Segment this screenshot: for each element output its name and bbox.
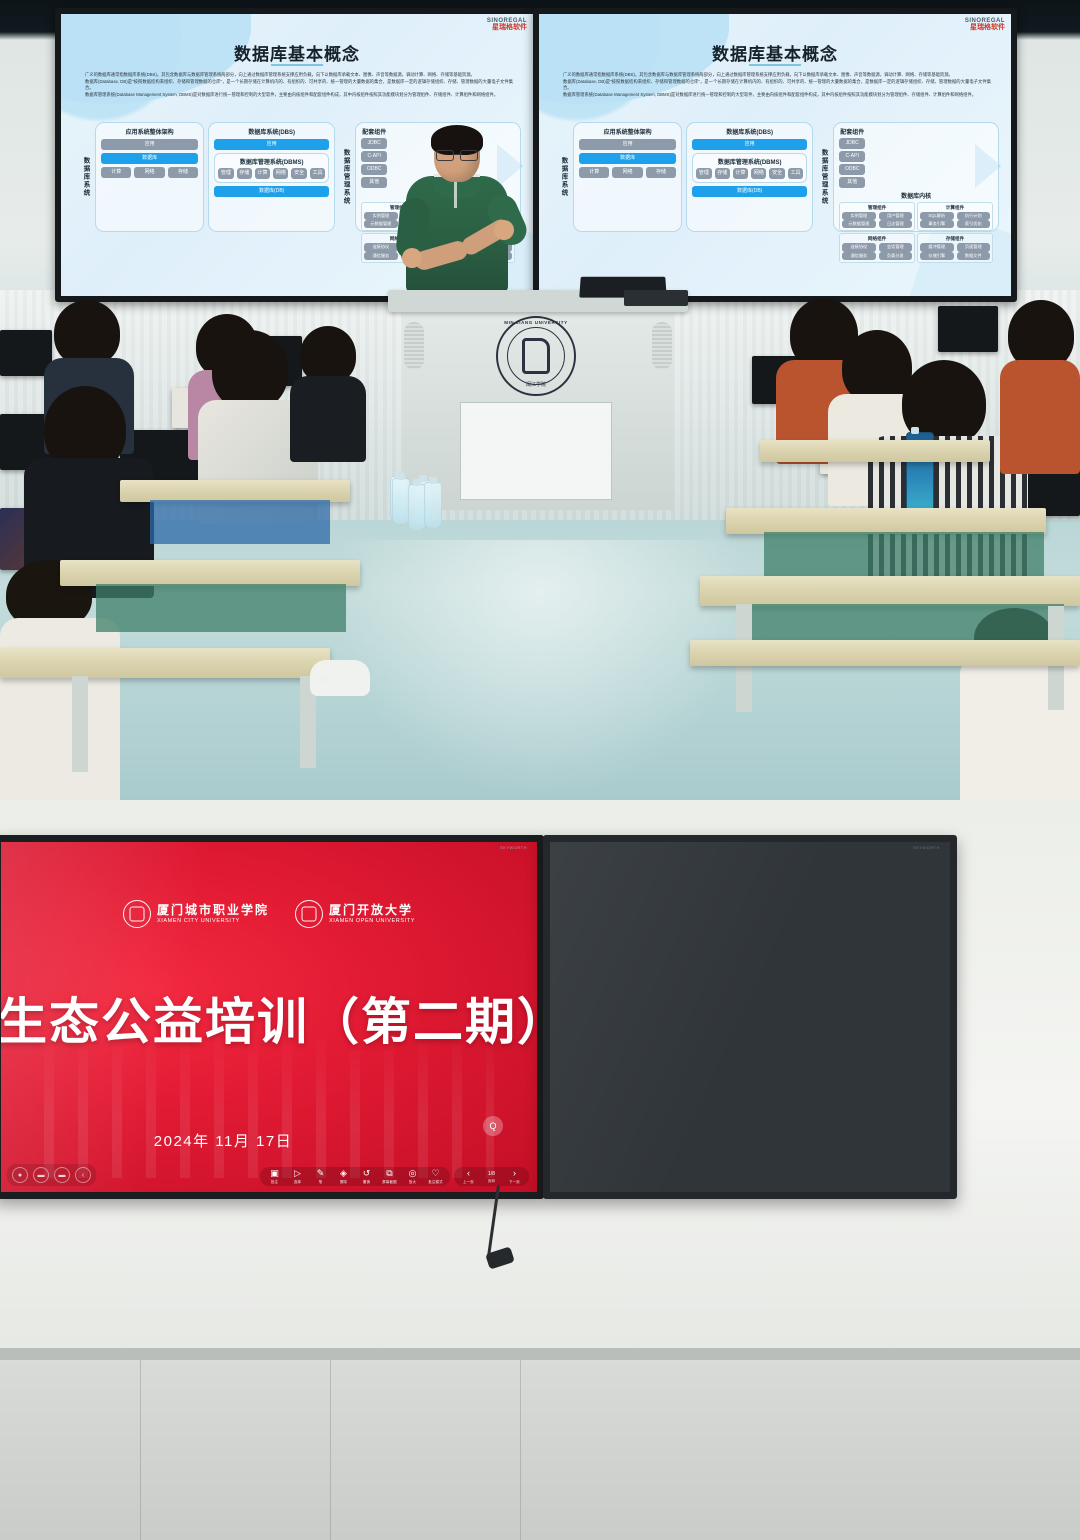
tool-zoom-label: 放大 xyxy=(409,1179,416,1184)
page-nav-group[interactable]: ‹ 上一页 1/8 页码 › 下一页 xyxy=(454,1167,529,1186)
kernel-side-chip-0-r: JDBC xyxy=(839,138,865,149)
diagram-panel-dbs-r: 数据库系统(DBS) 应用 数据库管理系统(DBMS) 管理 存储 计算 网络 … xyxy=(686,122,813,232)
slide-title: 数据库基本概念 xyxy=(61,40,533,65)
panel-architecture-title: 应用系统整体架构 xyxy=(101,127,198,136)
slide-brand: SINOREGAL 星瑞格软件 xyxy=(487,18,527,32)
slide-paragraph-1: 广义的数据库通常指数据库系统(DBS)，其包含数据库与数据库管理系统两部分，向上… xyxy=(85,72,513,79)
university-1-en: XIAMEN CITY UNIVERSITY xyxy=(157,918,269,924)
eraser-icon: ◈ xyxy=(340,1169,347,1178)
dbms-chip-1-r: 存储 xyxy=(715,168,730,179)
zoom-icon: ◎ xyxy=(409,1169,417,1178)
podium-front-panel xyxy=(460,402,612,500)
chevron-right-icon: › xyxy=(513,1169,516,1178)
chip-network: 网络 xyxy=(134,167,164,178)
lecturer-hand-left xyxy=(402,248,422,268)
dbms-chip-3-r: 网络 xyxy=(751,168,766,179)
tool-select[interactable]: ▷ 选择 xyxy=(286,1169,309,1184)
annotation-toolbar[interactable]: ▣ 批注 ▷ 选择 ✎ 笔 ◈ 擦除 xyxy=(260,1167,529,1186)
tool-screenshot[interactable]: ⧉ 屏幕截图 xyxy=(378,1169,401,1184)
chip-compute-r: 计算 xyxy=(579,167,609,178)
panel-dbs-title: 数据库系统(DBS) xyxy=(214,127,329,136)
annotation-tool-group[interactable]: ▣ 批注 ▷ 选择 ✎ 笔 ◈ 擦除 xyxy=(260,1167,450,1186)
kernel-main-r: 数据库内核 管理组件 实例管理用户管理 元数据管理日志管理 计算组件 SQL解析… xyxy=(839,191,993,263)
undo-icon: ↺ xyxy=(363,1169,371,1178)
control-icon-2[interactable]: ▬ xyxy=(54,1167,70,1183)
kb1-c0-r: SQL解析 xyxy=(920,212,953,220)
student xyxy=(1000,300,1080,470)
slide-paragraph-2-r: 数据库(Database, DB)是"按照数据结构来组织、存储和管理数据的仓库"… xyxy=(563,79,991,92)
slide-right: SINOREGAL 星瑞格软件 数据库基本概念 广义的数据库通常指数据库系统(D… xyxy=(539,14,1011,296)
room-floor xyxy=(0,1360,1080,1540)
kernel-box-0-title-r: 管理组件 xyxy=(842,205,912,211)
shoe xyxy=(310,660,370,696)
kb0-c3-r: 日志管理 xyxy=(879,220,912,228)
kb2-c2: 通信服务 xyxy=(364,252,397,260)
prev-page-button[interactable]: ‹ 上一页 xyxy=(457,1169,480,1184)
student-body xyxy=(1000,360,1080,474)
kb3-c2-r: 存储引擎 xyxy=(920,252,953,260)
panel-architecture-title-r: 应用系统整体架构 xyxy=(579,127,676,136)
kb2-c3-r: 负载分发 xyxy=(879,252,912,260)
kernel-box-1-title-r: 计算组件 xyxy=(920,205,990,211)
diagram-panel-architecture-r: 应用系统整体架构 应用 数据库 计算 网络 存储 xyxy=(573,122,682,232)
desk xyxy=(700,576,1080,606)
podium-device xyxy=(624,290,688,306)
kernel-side-chip-2: ODBC xyxy=(361,164,387,175)
next-page-label: 下一页 xyxy=(509,1179,520,1184)
emblem-ring-inner xyxy=(507,327,565,385)
dbms-chip-row: 管理 存储 计算 网络 安全 工具 xyxy=(218,168,325,179)
photo-composite: SINOREGAL 星瑞格软件 数据库基本概念 广义的数据库通常指数据库系统(D… xyxy=(0,0,1080,1540)
kb0-c2: 元数据管理 xyxy=(364,220,397,228)
slide-brand-r: SINOREGAL 星瑞格软件 xyxy=(965,18,1005,32)
student-body xyxy=(0,618,120,800)
slide-diagram-r: 数据库系统 应用系统整体架构 应用 数据库 计算 网络 存储 数据库系统(DBS… xyxy=(557,122,999,232)
screen-glow xyxy=(543,835,830,1199)
brand-cn-label: 星瑞格软件 xyxy=(487,24,527,31)
subpanel-dbms-title-r: 数据库管理系统(DBMS) xyxy=(696,157,803,166)
floor-glare xyxy=(330,540,750,800)
kernel-box-storage-r: 存储组件 缓冲管理页面管理 存储引擎数据文件 xyxy=(917,233,993,262)
slide-body-r: 广义的数据库通常指数据库系统(DBS)，其包含数据库与数据库管理系统两部分，向上… xyxy=(563,72,991,99)
dbms-chip-2: 计算 xyxy=(255,168,270,179)
diagram-panel-kernel-r: 配套组件 JDBC C-API ODBC 其他 数据库内核 管理组件 实 xyxy=(833,122,999,232)
page-indicator: 1/8 页码 xyxy=(480,1169,503,1184)
pen-icon: ✎ xyxy=(317,1169,325,1178)
tool-screenshot-label: 屏幕截图 xyxy=(382,1179,396,1184)
tool-undo[interactable]: ↺ 撤销 xyxy=(355,1169,378,1184)
diagram-panel-architecture: 应用系统整体架构 应用 数据库 计算 网络 存储 xyxy=(95,122,204,232)
emblem-en-text: MIN JIANG UNIVERSITY xyxy=(498,320,574,325)
kb2-c1-r: 会话管理 xyxy=(879,243,912,251)
kb2-c0: 连接协议 xyxy=(364,243,397,251)
slide-body: 广义的数据库通常指数据库系统(DBS)，其包含数据库与数据库管理系统两部分，向上… xyxy=(85,72,513,99)
control-icon-0[interactable]: ● xyxy=(12,1167,28,1183)
tool-eraser[interactable]: ◈ 擦除 xyxy=(332,1169,355,1184)
university-seal-icon xyxy=(123,900,151,928)
panel-architecture-base-row: 计算 网络 存储 xyxy=(101,167,198,178)
lecturer-hand-right xyxy=(494,220,514,240)
kernel-side-chip-1-r: C-API xyxy=(839,151,865,162)
kernel-side-title: 配套组件 xyxy=(361,127,387,136)
tool-pen-label: 笔 xyxy=(319,1179,323,1184)
dbms-chip-5: 工具 xyxy=(310,168,325,179)
panel-dbs-title-r: 数据库系统(DBS) xyxy=(692,127,807,136)
chip-db: 数据库(DB) xyxy=(214,186,329,197)
diagram-panel-dbs: 数据库系统(DBS) 应用 数据库管理系统(DBMS) 管理 存储 计算 网络 … xyxy=(208,122,335,232)
dbms-chip-0: 管理 xyxy=(218,168,233,179)
banner-room-photo: 厦门城市职业学院 XIAMEN CITY UNIVERSITY 厦门开放大学 X… xyxy=(0,800,1080,1540)
dbms-chip-3: 网络 xyxy=(273,168,288,179)
chip-storage-r: 存储 xyxy=(646,167,676,178)
chip-network-r: 网络 xyxy=(612,167,642,178)
banner-date: 2024年 11月 17日 xyxy=(0,1130,491,1151)
presentation-display-left: 厦门城市职业学院 XIAMEN CITY UNIVERSITY 厦门开放大学 X… xyxy=(0,835,544,1199)
student-body xyxy=(290,376,366,462)
university-2-cn: 厦门开放大学 xyxy=(329,904,415,918)
podium-speaker-grille-right xyxy=(652,322,672,370)
brand-cn-label-r: 星瑞格软件 xyxy=(965,24,1005,31)
university-1-cn: 厦门城市职业学院 xyxy=(157,904,269,918)
emblem-mark-icon xyxy=(522,338,550,374)
university-1-text: 厦门城市职业学院 XIAMEN CITY UNIVERSITY xyxy=(157,904,269,924)
chip-database-r: 数据库 xyxy=(579,153,676,164)
chip-dbs-app: 应用 xyxy=(214,139,329,150)
kernel-side-chip-2-r: ODBC xyxy=(839,164,865,175)
kernel-side-chip-0: JDBC xyxy=(361,138,387,149)
university-logos: 厦门城市职业学院 XIAMEN CITY UNIVERSITY 厦门开放大学 X… xyxy=(1,900,537,928)
slide-paragraph-2: 数据库(Database, DB)是"按照数据结构来组织、存储和管理数据的仓库"… xyxy=(85,79,513,92)
slide-paragraph-1-r: 广义的数据库通常指数据库系统(DBS)，其包含数据库与数据库管理系统两部分，向上… xyxy=(563,72,991,79)
kernel-side-components: 配套组件 JDBC C-API ODBC 其他 xyxy=(361,127,387,188)
desk xyxy=(60,560,360,586)
annotate-icon: ▣ xyxy=(270,1169,279,1178)
kb2-c0-r: 连接协议 xyxy=(842,243,875,251)
kb0-c2-r: 元数据管理 xyxy=(842,220,875,228)
dbms-chip-1: 存储 xyxy=(237,168,252,179)
page-indicator-label: 页码 xyxy=(488,1178,495,1183)
screen-left-controls[interactable]: ● ▬ ▬ ‹ xyxy=(7,1164,96,1186)
kernel-box-network-r: 网络组件 连接协议会话管理 通信服务负载分发 xyxy=(839,233,915,262)
tool-eraser-label: 擦除 xyxy=(340,1179,347,1184)
slide-title-r: 数据库基本概念 xyxy=(539,40,1011,65)
desk xyxy=(0,648,330,678)
glasses-icon xyxy=(436,150,478,159)
chip-storage: 存储 xyxy=(168,167,198,178)
kb3-c3-r: 数据文件 xyxy=(957,252,990,260)
university-2-text: 厦门开放大学 XIAMEN OPEN UNIVERSITY xyxy=(329,904,415,924)
corner-badge: Q xyxy=(483,1116,503,1136)
chip-db-r: 数据库(DB) xyxy=(692,186,807,197)
chip-dbs-app-r: 应用 xyxy=(692,139,807,150)
subpanel-dbms-r: 数据库管理系统(DBMS) 管理 存储 计算 网络 安全 工具 xyxy=(692,153,807,183)
dbms-chip-4-r: 安全 xyxy=(769,168,784,179)
desk-modesty-panel xyxy=(150,500,330,544)
chip-compute: 计算 xyxy=(101,167,131,178)
student-head xyxy=(54,300,120,366)
tool-annotate[interactable]: ▣ 批注 xyxy=(263,1169,286,1184)
kb1-c2-r: 事务引擎 xyxy=(920,220,953,228)
slide-paragraph-3: 数据库管理系统(Database Management System, DBMS… xyxy=(85,92,513,99)
dbms-chip-2-r: 计算 xyxy=(733,168,748,179)
desk xyxy=(120,480,350,502)
next-page-button[interactable]: › 下一页 xyxy=(503,1169,526,1184)
page-number: 1/8 xyxy=(488,1171,495,1177)
subpanel-dbms: 数据库管理系统(DBMS) 管理 存储 计算 网络 安全 工具 xyxy=(214,153,329,183)
university-2-en: XIAMEN OPEN UNIVERSITY xyxy=(329,918,415,924)
desk xyxy=(690,640,1080,666)
diagram-right-label: 数据库管理系统 xyxy=(339,122,351,232)
dbms-chip-0-r: 管理 xyxy=(696,168,711,179)
tool-pen[interactable]: ✎ 笔 xyxy=(309,1169,332,1184)
student-head xyxy=(212,330,288,410)
annotate-mode-icon: ♡ xyxy=(431,1169,439,1178)
university-emblem: MIN JIANG UNIVERSITY 闽江学院 xyxy=(496,316,576,396)
desk-modesty-panel xyxy=(96,584,346,632)
desk-modesty-panel xyxy=(764,532,1044,582)
control-icon-3[interactable]: ‹ xyxy=(75,1167,91,1183)
kb0-c0-r: 实例管理 xyxy=(842,212,875,220)
tool-annotate-mode-label: 批注模式 xyxy=(428,1179,442,1184)
chevron-left-icon: ‹ xyxy=(467,1169,470,1178)
subpanel-dbms-title: 数据库管理系统(DBMS) xyxy=(218,157,325,166)
display-right: SINOREGAL 星瑞格软件 数据库基本概念 广义的数据库通常指数据库系统(D… xyxy=(533,8,1017,302)
classroom-photo: SINOREGAL 星瑞格软件 数据库基本概念 广义的数据库通常指数据库系统(D… xyxy=(0,0,1080,800)
tool-annotate-mode[interactable]: ♡ 批注模式 xyxy=(424,1169,447,1184)
dbms-chip-5-r: 工具 xyxy=(788,168,803,179)
university-logo-2: 厦门开放大学 XIAMEN OPEN UNIVERSITY xyxy=(295,900,415,928)
kernel-side-chip-1: C-API xyxy=(361,151,387,162)
kernel-box-3-title-r: 存储组件 xyxy=(920,236,990,242)
slide-paragraph-3-r: 数据库管理系统(Database Management System, DBMS… xyxy=(563,92,991,99)
kernel-box-compute-r: 计算组件 SQL解析执行计划 事务引擎索引优化 xyxy=(917,202,993,231)
emblem-cn-text: 闽江学院 xyxy=(498,381,574,388)
diagram-right-label-r: 数据库管理系统 xyxy=(817,122,829,232)
kb1-c3-r: 索引优化 xyxy=(957,220,990,228)
cursor-icon: ▷ xyxy=(294,1169,301,1178)
red-banner-slide: 厦门城市职业学院 XIAMEN CITY UNIVERSITY 厦门开放大学 X… xyxy=(1,842,537,1192)
kernel-side-chip-3: 其他 xyxy=(361,177,387,188)
kb3-c1-r: 页面管理 xyxy=(957,243,990,251)
podium-speaker-grille-left xyxy=(404,322,424,370)
kernel-side-chip-3-r: 其他 xyxy=(839,177,865,188)
diagram-left-label: 数据库系统 xyxy=(79,122,91,232)
screenshot-icon: ⧉ xyxy=(386,1169,392,1178)
tool-select-label: 选择 xyxy=(294,1179,301,1184)
control-icon-1[interactable]: ▬ xyxy=(33,1167,49,1183)
kb0-c1-r: 用户管理 xyxy=(879,212,912,220)
kernel-box-management-r: 管理组件 实例管理用户管理 元数据管理日志管理 xyxy=(839,202,915,231)
tool-zoom[interactable]: ◎ 放大 xyxy=(401,1169,424,1184)
water-bottle-floor-c xyxy=(424,482,442,528)
kb3-c0-r: 缓冲管理 xyxy=(920,243,953,251)
tool-undo-label: 撤销 xyxy=(363,1179,370,1184)
prev-page-label: 上一页 xyxy=(463,1179,474,1184)
kernel-side-components-r: 配套组件 JDBC C-API ODBC 其他 xyxy=(839,127,865,188)
kernel-side-title-r: 配套组件 xyxy=(839,127,865,136)
chip-database: 数据库 xyxy=(101,153,198,164)
tool-annotate-label: 批注 xyxy=(271,1179,278,1184)
monitor xyxy=(938,306,998,352)
display-right-brand: SKYWORTH xyxy=(913,845,940,850)
desk-leg xyxy=(72,676,88,772)
lecturer-placket xyxy=(454,180,457,208)
desk xyxy=(726,508,1046,534)
dbms-chip-4: 安全 xyxy=(291,168,306,179)
banner-title: 创生态公益培训（第二期） xyxy=(0,982,481,1054)
slide-title-underline-r xyxy=(749,64,801,66)
kb0-c0: 实例管理 xyxy=(364,212,397,220)
slide-title-underline xyxy=(271,64,323,66)
chip-application: 应用 xyxy=(101,139,198,150)
kb1-c1-r: 执行计划 xyxy=(957,212,990,220)
kernel-grid-r: 管理组件 实例管理用户管理 元数据管理日志管理 计算组件 SQL解析执行计划 事… xyxy=(839,202,993,263)
desk xyxy=(760,440,990,462)
kernel-title-r: 数据库内核 xyxy=(839,191,993,200)
university-logo-1: 厦门城市职业学院 XIAMEN CITY UNIVERSITY xyxy=(123,900,269,928)
university-seal-icon-2 xyxy=(295,900,323,928)
diagram-left-label-r: 数据库系统 xyxy=(557,122,569,232)
kb2-c2-r: 通信服务 xyxy=(842,252,875,260)
lecturer-figure xyxy=(398,128,516,293)
presentation-display-right: SKYWORTH xyxy=(543,835,957,1199)
student xyxy=(290,326,366,456)
kernel-box-2-title-r: 网络组件 xyxy=(842,236,912,242)
chip-application-r: 应用 xyxy=(579,139,676,150)
display-left-brand: SKYWORTH xyxy=(500,845,527,850)
